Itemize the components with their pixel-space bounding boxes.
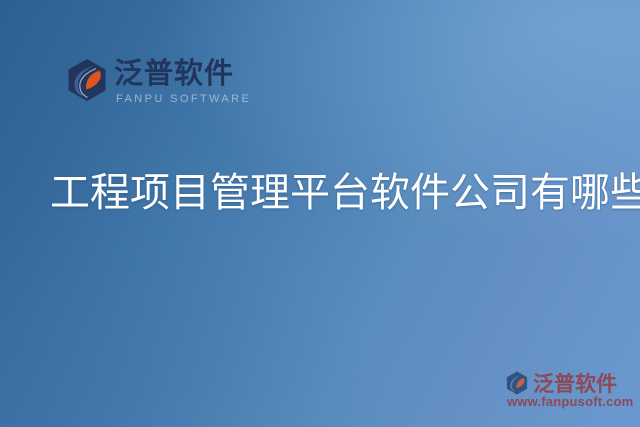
logo-chinese-name: 泛普软件 [114,55,234,91]
banner-image: 泛普软件 FANPU SOFTWARE 工程项目管理平台软件公司有哪些 泛普软件… [0,0,640,427]
watermark-hexagon-shape [507,372,527,395]
fanpu-hexagon-logo-icon [66,58,108,102]
watermark-fanpu-hexagon-logo-icon [505,371,529,395]
logo-english-name: FANPU SOFTWARE [116,93,251,105]
watermark: 泛普软件 www.fanpusoft.com [505,368,637,414]
company-logo: 泛普软件 FANPU SOFTWARE [66,55,238,115]
page-title: 工程项目管理平台软件公司有哪些 [50,168,606,218]
logo-hexagon-shape [69,59,106,101]
watermark-url: www.fanpusoft.com [507,394,633,409]
